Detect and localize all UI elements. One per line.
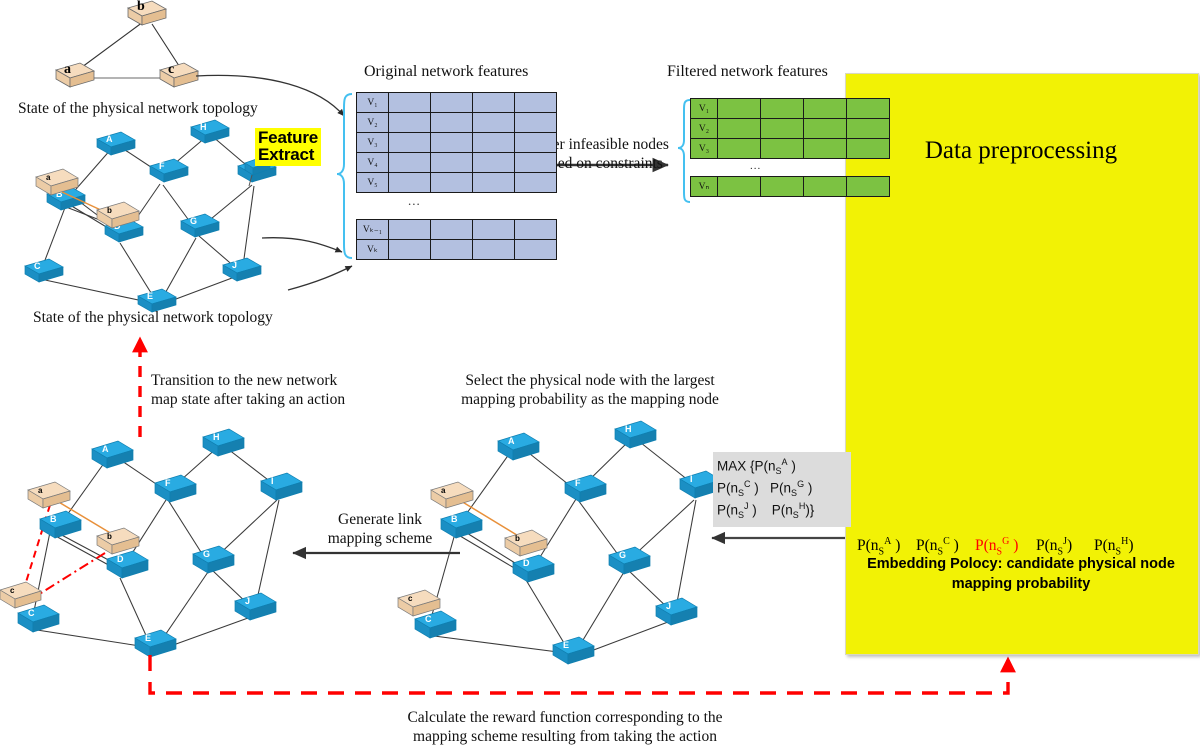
- table-row: V₄: [357, 153, 557, 173]
- generated-link-b-c: [33, 553, 105, 598]
- svg-text:A: A: [106, 134, 113, 144]
- transition-line1: Transition to the new network: [151, 371, 345, 390]
- table-row: Vₖ₋₁: [357, 220, 557, 240]
- physical-node-H: H: [191, 120, 229, 143]
- brace-filtered-table: [678, 100, 690, 202]
- filtered-features-table-bottom: Vₙ: [690, 176, 890, 197]
- svg-text:J: J: [232, 260, 237, 270]
- svg-text:c: c: [168, 62, 174, 77]
- generate-link-caption: Generate link mapping scheme: [300, 510, 460, 549]
- svg-text:c: c: [10, 586, 15, 595]
- max-line-2: P(nSC ) P(nSG ): [717, 478, 848, 500]
- virtual-node-b: b: [128, 0, 166, 25]
- table-row: V₅: [357, 173, 557, 193]
- svg-text:B: B: [50, 514, 57, 524]
- table-row: V₁: [691, 99, 890, 119]
- svg-text:A: A: [508, 436, 515, 446]
- svg-text:H: H: [213, 432, 220, 442]
- svg-text:b: b: [107, 532, 112, 541]
- table-row: Vₖ: [357, 240, 557, 260]
- svg-text:a: a: [46, 173, 51, 182]
- svg-text:E: E: [147, 291, 153, 301]
- svg-text:C: C: [425, 614, 432, 624]
- brace-original-table: [337, 94, 352, 258]
- arrow-phys-to-table-1: [262, 238, 342, 252]
- svg-text:D: D: [117, 554, 124, 564]
- max-probability-box: MAX {P(nSA ) P(nSC ) P(nSG ) P(nSJ ) P(n…: [713, 452, 851, 527]
- svg-text:G: G: [619, 550, 626, 560]
- svg-text:F: F: [159, 161, 165, 171]
- row-key: Vₙ: [691, 177, 718, 197]
- svg-text:a: a: [38, 486, 43, 495]
- svg-text:C: C: [28, 608, 35, 618]
- physical-node-I-bot: I: [261, 473, 302, 500]
- reward-caption: Calculate the reward function correspond…: [325, 708, 805, 747]
- table-row: V₃: [357, 133, 557, 153]
- physical-node-C: C: [25, 259, 63, 282]
- original-table-ellipsis: ...: [408, 193, 421, 209]
- physical-node-F-mid: F: [565, 475, 606, 502]
- table-row: V₂: [357, 113, 557, 133]
- svg-text:G: G: [190, 216, 197, 226]
- virtual-node-c: c: [160, 62, 198, 87]
- svg-text:E: E: [563, 640, 569, 650]
- svg-text:G: G: [203, 549, 210, 559]
- physical-node-E-bot: E: [135, 630, 176, 657]
- svg-text:I: I: [271, 476, 274, 486]
- reward-line1: Calculate the reward function correspond…: [325, 708, 805, 727]
- table-row: V₂: [691, 119, 890, 139]
- transition-caption: Transition to the new network map state …: [151, 371, 345, 410]
- virtual-topology-caption: State of the physical network topology: [18, 99, 258, 118]
- select-node-line2: mapping probability as the mapping node: [440, 390, 740, 409]
- filtered-features-title: Filtered network features: [667, 62, 828, 82]
- row-key: Vₖ: [357, 240, 389, 260]
- diagram-root: b a c: [0, 0, 1200, 753]
- svg-text:E: E: [145, 633, 151, 643]
- svg-text:C: C: [34, 261, 41, 271]
- svg-text:D: D: [523, 558, 530, 568]
- filtered-features-table-top: V₁ V₂ V₃: [690, 98, 890, 159]
- svg-text:A: A: [102, 444, 109, 454]
- svg-text:b: b: [137, 0, 145, 14]
- feature-extract-badge: Feature Extract: [255, 128, 321, 166]
- virtual-node-c-on-C-mid: c: [398, 590, 440, 616]
- svg-text:H: H: [625, 424, 632, 434]
- feature-extract-line2: Extract: [258, 146, 318, 163]
- svg-text:H: H: [200, 122, 207, 132]
- max-line-1: MAX {P(nSA ): [717, 456, 848, 478]
- select-node-caption: Select the physical node with the larges…: [440, 371, 740, 410]
- transition-line2: map state after taking an action: [151, 390, 345, 409]
- original-features-title: Original network features: [364, 62, 528, 82]
- virtual-node-b-on-D-mid: b: [505, 530, 547, 556]
- table-row: Vₙ: [691, 177, 890, 197]
- generate-link-line1: Generate link: [300, 510, 460, 529]
- virtual-node-c-on-C-bot: c: [0, 582, 41, 608]
- physical-network-topology-top: A H F I: [25, 120, 276, 312]
- svg-text:J: J: [666, 601, 671, 611]
- row-key: V₂: [357, 113, 389, 133]
- row-key: V₃: [357, 133, 389, 153]
- physical-node-H-bot: H: [203, 429, 244, 456]
- physical-node-H-mid: H: [615, 421, 656, 448]
- row-key: V₁: [691, 99, 718, 119]
- svg-text:F: F: [575, 478, 581, 488]
- virtual-node-b-on-D-bot: b: [97, 528, 139, 554]
- original-features-table-top: V₁ V₂ V₃ V₄ V₅: [356, 92, 557, 193]
- filtered-table-ellipsis: ...: [750, 160, 761, 172]
- embedding-policy-line1: Embedding Polocy: candidate physical nod…: [858, 555, 1184, 575]
- svg-text:J: J: [245, 596, 250, 606]
- physical-node-D-bot: D: [107, 551, 148, 578]
- physical-topology-caption: State of the physical network topology: [33, 308, 273, 327]
- row-key: V₁: [357, 93, 389, 113]
- svg-text:F: F: [165, 478, 171, 488]
- table-row: V₁: [357, 93, 557, 113]
- row-key: V₅: [357, 173, 389, 193]
- row-key: V₃: [691, 139, 718, 159]
- physical-node-B-bot: B: [40, 511, 81, 538]
- data-preprocessing-label: Data preprocessing: [916, 137, 1126, 165]
- virtual-node-a-on-B-bot: a: [28, 482, 70, 508]
- row-key: V₂: [691, 119, 718, 139]
- physical-node-C-mid: C: [415, 611, 456, 638]
- physical-node-E-mid: E: [553, 637, 594, 664]
- physical-network-topology-bottom: c A H F: [0, 429, 302, 657]
- table-row: V₃: [691, 139, 890, 159]
- physical-node-D-mid: D: [513, 555, 554, 582]
- physical-node-F: F: [150, 159, 188, 182]
- embedding-policy-line2: mapping probability: [858, 575, 1184, 595]
- svg-text:b: b: [107, 206, 112, 215]
- feature-extract-line1: Feature: [258, 129, 318, 146]
- svg-text:b: b: [515, 534, 520, 543]
- row-key: Vₖ₋₁: [357, 220, 389, 240]
- svg-text:a: a: [441, 486, 446, 495]
- svg-text:a: a: [64, 62, 71, 77]
- max-line-3: P(nSJ ) P(nSH)}: [717, 500, 848, 522]
- reward-line2: mapping scheme resulting from taking the…: [325, 727, 805, 746]
- svg-text:I: I: [690, 474, 693, 484]
- embedding-policy-caption: Embedding Polocy: candidate physical nod…: [858, 555, 1184, 594]
- physical-node-A: A: [97, 132, 135, 155]
- row-key: V₄: [357, 153, 389, 173]
- svg-text:c: c: [408, 594, 413, 603]
- select-node-line1: Select the physical node with the larges…: [440, 371, 740, 390]
- generate-link-line2: mapping scheme: [300, 529, 460, 548]
- physical-node-C-bot: C: [18, 605, 59, 632]
- physical-node-F-bot: F: [155, 475, 196, 502]
- virtual-network-topology: b a c: [56, 0, 198, 87]
- arrow-phys-to-table-2: [288, 266, 352, 290]
- virtual-node-a: a: [56, 62, 94, 87]
- original-features-table-bottom: Vₖ₋₁ Vₖ: [356, 219, 557, 260]
